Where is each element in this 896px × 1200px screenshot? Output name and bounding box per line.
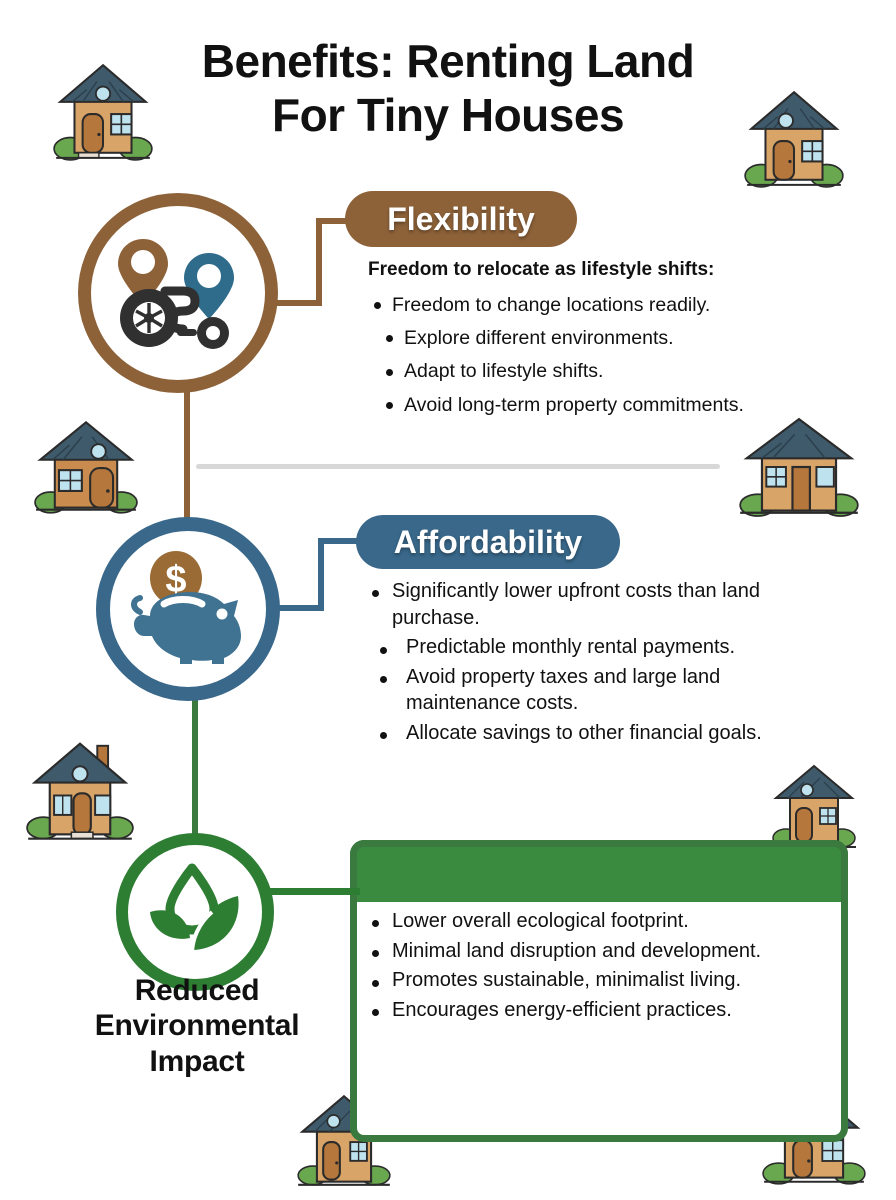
tiny-house-icon <box>52 55 154 165</box>
flexibility-pill[interactable]: Flexibility <box>345 191 577 247</box>
list-item: Avoid property taxes and large land main… <box>368 664 828 717</box>
affordability-pill-label: Affordability <box>394 524 582 561</box>
list-item: Significantly lower upfront costs than l… <box>368 578 828 631</box>
page-title-line-2: For Tiny Houses <box>120 88 776 142</box>
environment-title-line-2: Environmental <box>58 1008 336 1043</box>
flexibility-bullet-list: Freedom to change locations readily. Exp… <box>370 290 882 423</box>
page-title: Benefits: Renting Land For Tiny Houses <box>120 34 776 143</box>
relocate-pins-wheel-icon <box>91 206 265 380</box>
environment-title: Reduced Environmental Impact <box>58 973 336 1079</box>
list-item: Promotes sustainable, minimalist living. <box>368 967 808 994</box>
connector-affordability-v <box>318 538 324 611</box>
environment-box-header <box>350 840 848 902</box>
tiny-house-icon <box>738 412 860 522</box>
flexibility-pill-label: Flexibility <box>387 201 535 238</box>
trunk-flexibility-to-affordability <box>184 388 190 518</box>
environment-title-line-3: Impact <box>58 1044 336 1079</box>
list-item: Adapt to lifestyle shifts. <box>370 356 882 386</box>
connector-affordability-h-lower <box>276 605 324 611</box>
environment-icon-ring <box>116 833 274 991</box>
affordability-pill[interactable]: Affordability <box>356 515 620 569</box>
list-item: Encourages energy-efficient practices. <box>368 997 808 1024</box>
affordability-icon-ring: $ <box>96 517 280 701</box>
flexibility-lead-text: Freedom to relocate as lifestyle shifts: <box>368 258 888 283</box>
piggy-bank-icon: $ <box>110 531 266 687</box>
list-item: Allocate savings to other financial goal… <box>368 720 828 747</box>
list-item: Freedom to change locations readily. <box>370 290 882 320</box>
tiny-house-icon <box>26 735 134 843</box>
leaf-drop-eco-icon <box>128 845 262 979</box>
connector-environment-h <box>268 888 360 895</box>
connector-flexibility-v <box>316 218 322 306</box>
flexibility-icon-ring <box>78 193 278 393</box>
tiny-house-icon <box>742 82 846 192</box>
list-item: Lower overall ecological footprint. <box>368 908 808 935</box>
environment-bullet-list: Lower overall ecological footprint. Mini… <box>368 908 808 1026</box>
environment-title-line-1: Reduced <box>58 973 336 1008</box>
list-item: Explore different environments. <box>370 323 882 353</box>
list-item: Predictable monthly rental payments. <box>368 634 828 661</box>
tiny-house-icon <box>770 760 858 852</box>
trunk-affordability-to-environment <box>192 694 198 844</box>
infographic-canvas: Benefits: Renting Land For Tiny Houses <box>0 0 896 1200</box>
affordability-bullet-list: Significantly lower upfront costs than l… <box>368 578 828 750</box>
list-item: Avoid long-term property commitments. <box>370 390 882 420</box>
list-item: Minimal land disruption and development. <box>368 938 808 965</box>
page-title-line-1: Benefits: Renting Land <box>202 35 694 87</box>
tiny-house-icon <box>33 414 139 518</box>
section-divider <box>196 464 720 469</box>
